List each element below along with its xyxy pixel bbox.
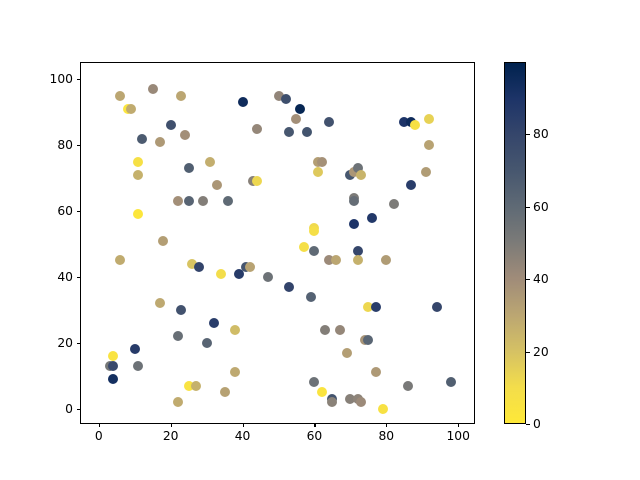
scatter-point [284, 282, 294, 292]
scatter-point [367, 213, 377, 223]
scatter-point [389, 199, 399, 209]
colorbar-tick-label: 80 [533, 128, 549, 140]
scatter-point [184, 163, 194, 173]
x-tick-label: 100 [446, 430, 469, 442]
scatter-point [320, 325, 330, 335]
scatter-point [155, 298, 165, 308]
scatter-points-layer [81, 63, 474, 423]
scatter-point [432, 302, 442, 312]
scatter-point [353, 255, 363, 265]
y-tick-mark [77, 145, 81, 146]
figure-canvas: 020406080100 020406080100 020406080 [0, 0, 640, 480]
y-tick-mark [77, 277, 81, 278]
colorbar-tick-mark [526, 134, 530, 135]
scatter-point [176, 91, 186, 101]
scatter-point [220, 387, 230, 397]
scatter-point [317, 387, 327, 397]
scatter-point [216, 269, 226, 279]
scatter-point [342, 348, 352, 358]
scatter-point [176, 305, 186, 315]
colorbar-tick-label: 60 [533, 201, 549, 213]
colorbar-tick-mark [526, 207, 530, 208]
y-tick-label: 0 [65, 403, 73, 415]
scatter-point [291, 114, 301, 124]
x-tick-mark [243, 423, 244, 427]
colorbar-tick-mark [526, 279, 530, 280]
scatter-point [410, 120, 420, 130]
scatter-point [424, 140, 434, 150]
colorbar-tick-mark [526, 424, 530, 425]
scatter-point [324, 117, 334, 127]
scatter-point [302, 127, 312, 137]
scatter-point [205, 157, 215, 167]
scatter-point [108, 361, 118, 371]
scatter-point [133, 209, 143, 219]
scatter-point [356, 397, 366, 407]
y-tick-mark [77, 409, 81, 410]
y-tick-label: 20 [57, 337, 73, 349]
scatter-point [212, 180, 222, 190]
scatter-point [295, 104, 305, 114]
scatter-point [446, 377, 456, 387]
scatter-point [115, 255, 125, 265]
x-tick-label: 80 [378, 430, 394, 442]
colorbar-tick-label: 40 [533, 273, 549, 285]
scatter-point [252, 176, 262, 186]
colorbar-gradient [504, 62, 526, 424]
scatter-point [309, 246, 319, 256]
scatter-point [309, 377, 319, 387]
scatter-point [378, 404, 388, 414]
x-tick-mark [314, 423, 315, 427]
x-tick-label: 60 [307, 430, 323, 442]
scatter-point [363, 335, 373, 345]
scatter-point [421, 167, 431, 177]
y-tick-label: 80 [57, 139, 73, 151]
scatter-point [331, 255, 341, 265]
scatter-point [238, 97, 248, 107]
scatter-point [133, 170, 143, 180]
scatter-point [406, 180, 416, 190]
scatter-point [173, 196, 183, 206]
scatter-point [148, 84, 158, 94]
scatter-point [202, 338, 212, 348]
scatter-point [306, 292, 316, 302]
colorbar-tick-mark [526, 352, 530, 353]
scatter-point [173, 397, 183, 407]
scatter-point [299, 242, 309, 252]
y-tick-mark [77, 79, 81, 80]
x-tick-label: 40 [235, 430, 251, 442]
scatter-point [313, 167, 323, 177]
y-tick-mark [77, 343, 81, 344]
scatter-point [108, 374, 118, 384]
scatter-point [371, 367, 381, 377]
scatter-point [424, 114, 434, 124]
scatter-point [133, 157, 143, 167]
y-tick-label: 60 [57, 205, 73, 217]
scatter-point [108, 351, 118, 361]
scatter-point [327, 397, 337, 407]
scatter-point [252, 124, 262, 134]
scatter-point [194, 262, 204, 272]
scatter-point [180, 130, 190, 140]
scatter-point [284, 127, 294, 137]
colorbar-tick-label: 0 [533, 418, 541, 430]
scatter-point [335, 325, 345, 335]
scatter-point [191, 381, 201, 391]
scatter-point [263, 272, 273, 282]
y-tick-mark [77, 211, 81, 212]
y-tick-label: 40 [57, 271, 73, 283]
scatter-point [209, 318, 219, 328]
scatter-point [126, 104, 136, 114]
scatter-point [230, 367, 240, 377]
scatter-point [223, 196, 233, 206]
x-tick-mark [171, 423, 172, 427]
scatter-point [158, 236, 168, 246]
scatter-point [115, 91, 125, 101]
scatter-point [155, 137, 165, 147]
y-tick-label: 100 [50, 73, 73, 85]
scatter-plot-axes[interactable]: 020406080100 020406080100 [80, 62, 475, 424]
colorbar-tick-label: 20 [533, 345, 549, 357]
scatter-point [349, 196, 359, 206]
scatter-point [173, 331, 183, 341]
scatter-point [356, 170, 366, 180]
scatter-point [137, 134, 147, 144]
colorbar[interactable]: 020406080 [504, 62, 526, 424]
x-tick-label: 0 [95, 430, 103, 442]
scatter-point [133, 361, 143, 371]
scatter-point [309, 226, 319, 236]
scatter-point [317, 157, 327, 167]
scatter-point [198, 196, 208, 206]
scatter-point [403, 381, 413, 391]
x-tick-mark [99, 423, 100, 427]
scatter-point [166, 120, 176, 130]
x-tick-mark [386, 423, 387, 427]
scatter-point [230, 325, 240, 335]
scatter-point [349, 219, 359, 229]
scatter-point [381, 255, 391, 265]
scatter-point [353, 246, 363, 256]
scatter-point [281, 94, 291, 104]
scatter-point [184, 196, 194, 206]
scatter-point [130, 344, 140, 354]
x-tick-mark [458, 423, 459, 427]
scatter-point [371, 302, 381, 312]
x-tick-label: 20 [163, 430, 179, 442]
scatter-point [245, 262, 255, 272]
